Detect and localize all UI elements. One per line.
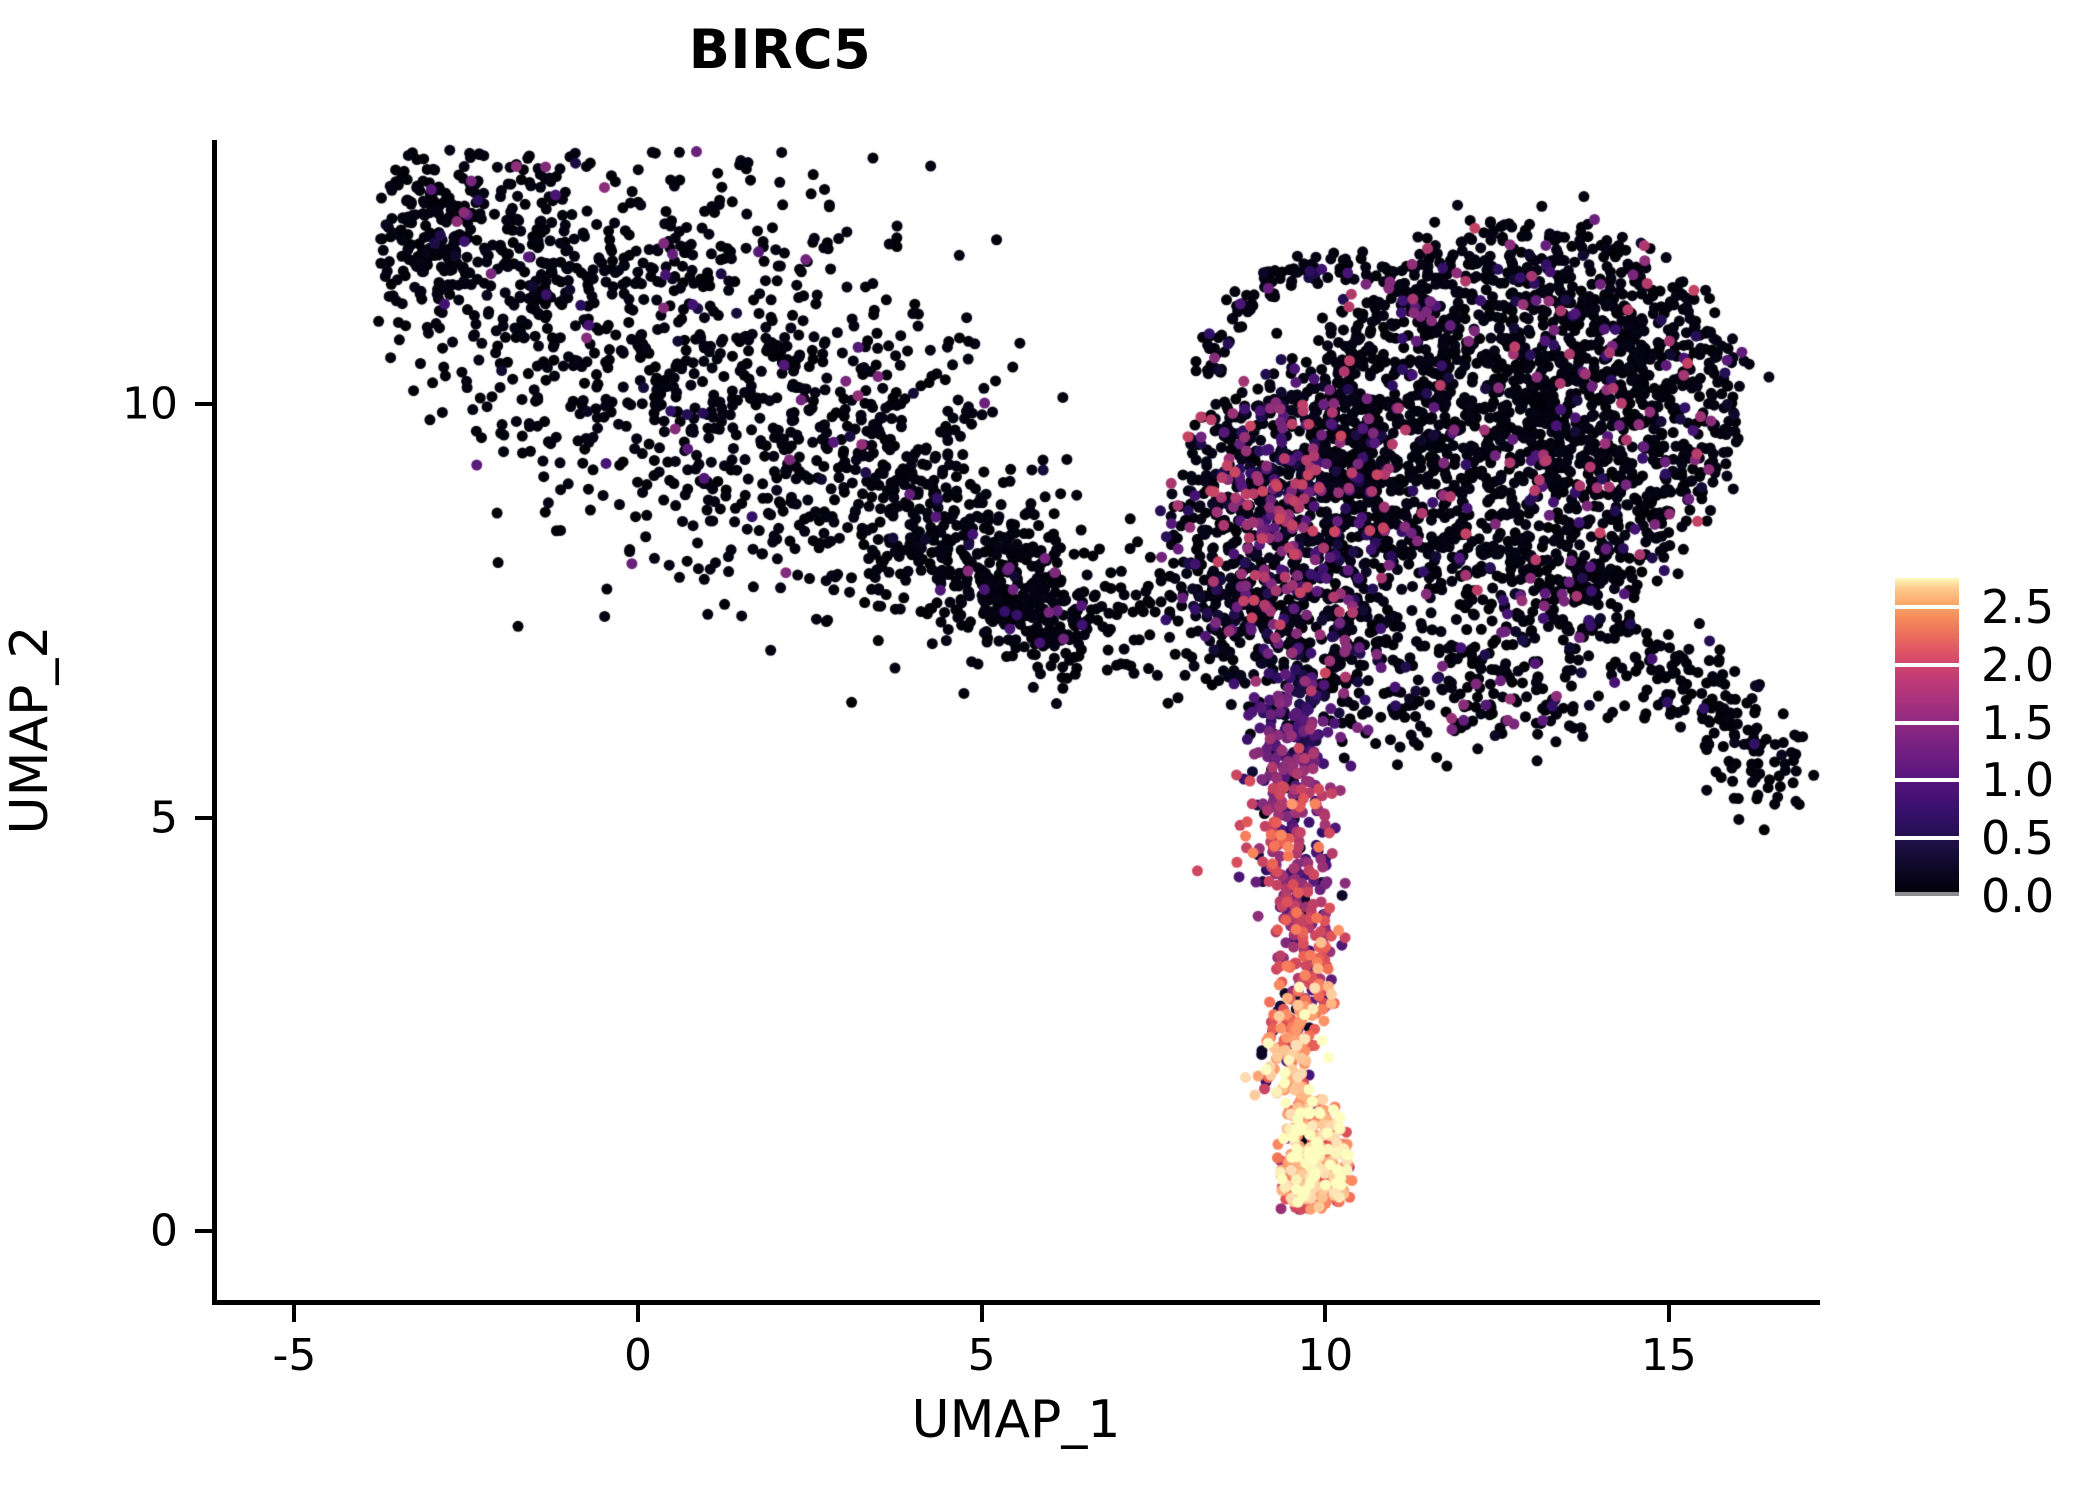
colorbar-tick-label: 2.5 <box>1981 580 2054 634</box>
y-axis-label: UMAP_2 <box>0 380 60 1080</box>
colorbar-tick-label: 0.0 <box>1981 869 2054 923</box>
colorbar-tick-label: 2.0 <box>1981 638 2054 692</box>
colorbar-gradient <box>1895 578 1959 896</box>
x-tick-mark <box>1323 1305 1327 1322</box>
x-tick-label: 15 <box>1641 1330 1697 1381</box>
colorbar-tick-mark <box>1895 605 1959 609</box>
colorbar-tick-label: 1.5 <box>1981 696 2054 750</box>
x-axis-label: UMAP_1 <box>212 1390 1820 1450</box>
x-tick-mark <box>292 1305 296 1322</box>
colorbar-tick-label: 1.0 <box>1981 753 2054 807</box>
colorbar: 0.00.51.01.52.02.5 <box>1895 578 2095 898</box>
x-tick-label: -5 <box>273 1330 317 1381</box>
umap-feature-plot-figure: BIRC5 -5051015 0510 UMAP_1 UMAP_2 0.00.5… <box>0 0 2100 1500</box>
x-tick-label: 0 <box>624 1330 652 1381</box>
x-tick-mark <box>1667 1305 1671 1322</box>
x-axis-spine <box>212 1300 1820 1305</box>
x-tick-label: 5 <box>968 1330 996 1381</box>
colorbar-tick-mark <box>1895 721 1959 725</box>
y-tick-mark <box>195 1229 212 1233</box>
page-title: BIRC5 <box>0 18 1560 81</box>
colorbar-tick-mark <box>1895 836 1959 840</box>
plot-axes: -5051015 0510 <box>212 140 1820 1305</box>
colorbar-tick-mark <box>1895 892 1959 896</box>
x-tick-mark <box>980 1305 984 1322</box>
y-tick-mark <box>195 816 212 820</box>
scatter-points-layer <box>212 140 1820 1305</box>
y-tick-label: 10 <box>122 379 178 430</box>
colorbar-tick-mark <box>1895 663 1959 667</box>
y-tick-label: 5 <box>150 792 178 843</box>
colorbar-tick-mark <box>1895 778 1959 782</box>
x-tick-label: 10 <box>1297 1330 1353 1381</box>
x-tick-mark <box>636 1305 640 1322</box>
colorbar-tick-label: 0.5 <box>1981 811 2054 865</box>
y-tick-mark <box>195 402 212 406</box>
y-axis-spine <box>212 140 217 1305</box>
y-tick-label: 0 <box>150 1205 178 1256</box>
